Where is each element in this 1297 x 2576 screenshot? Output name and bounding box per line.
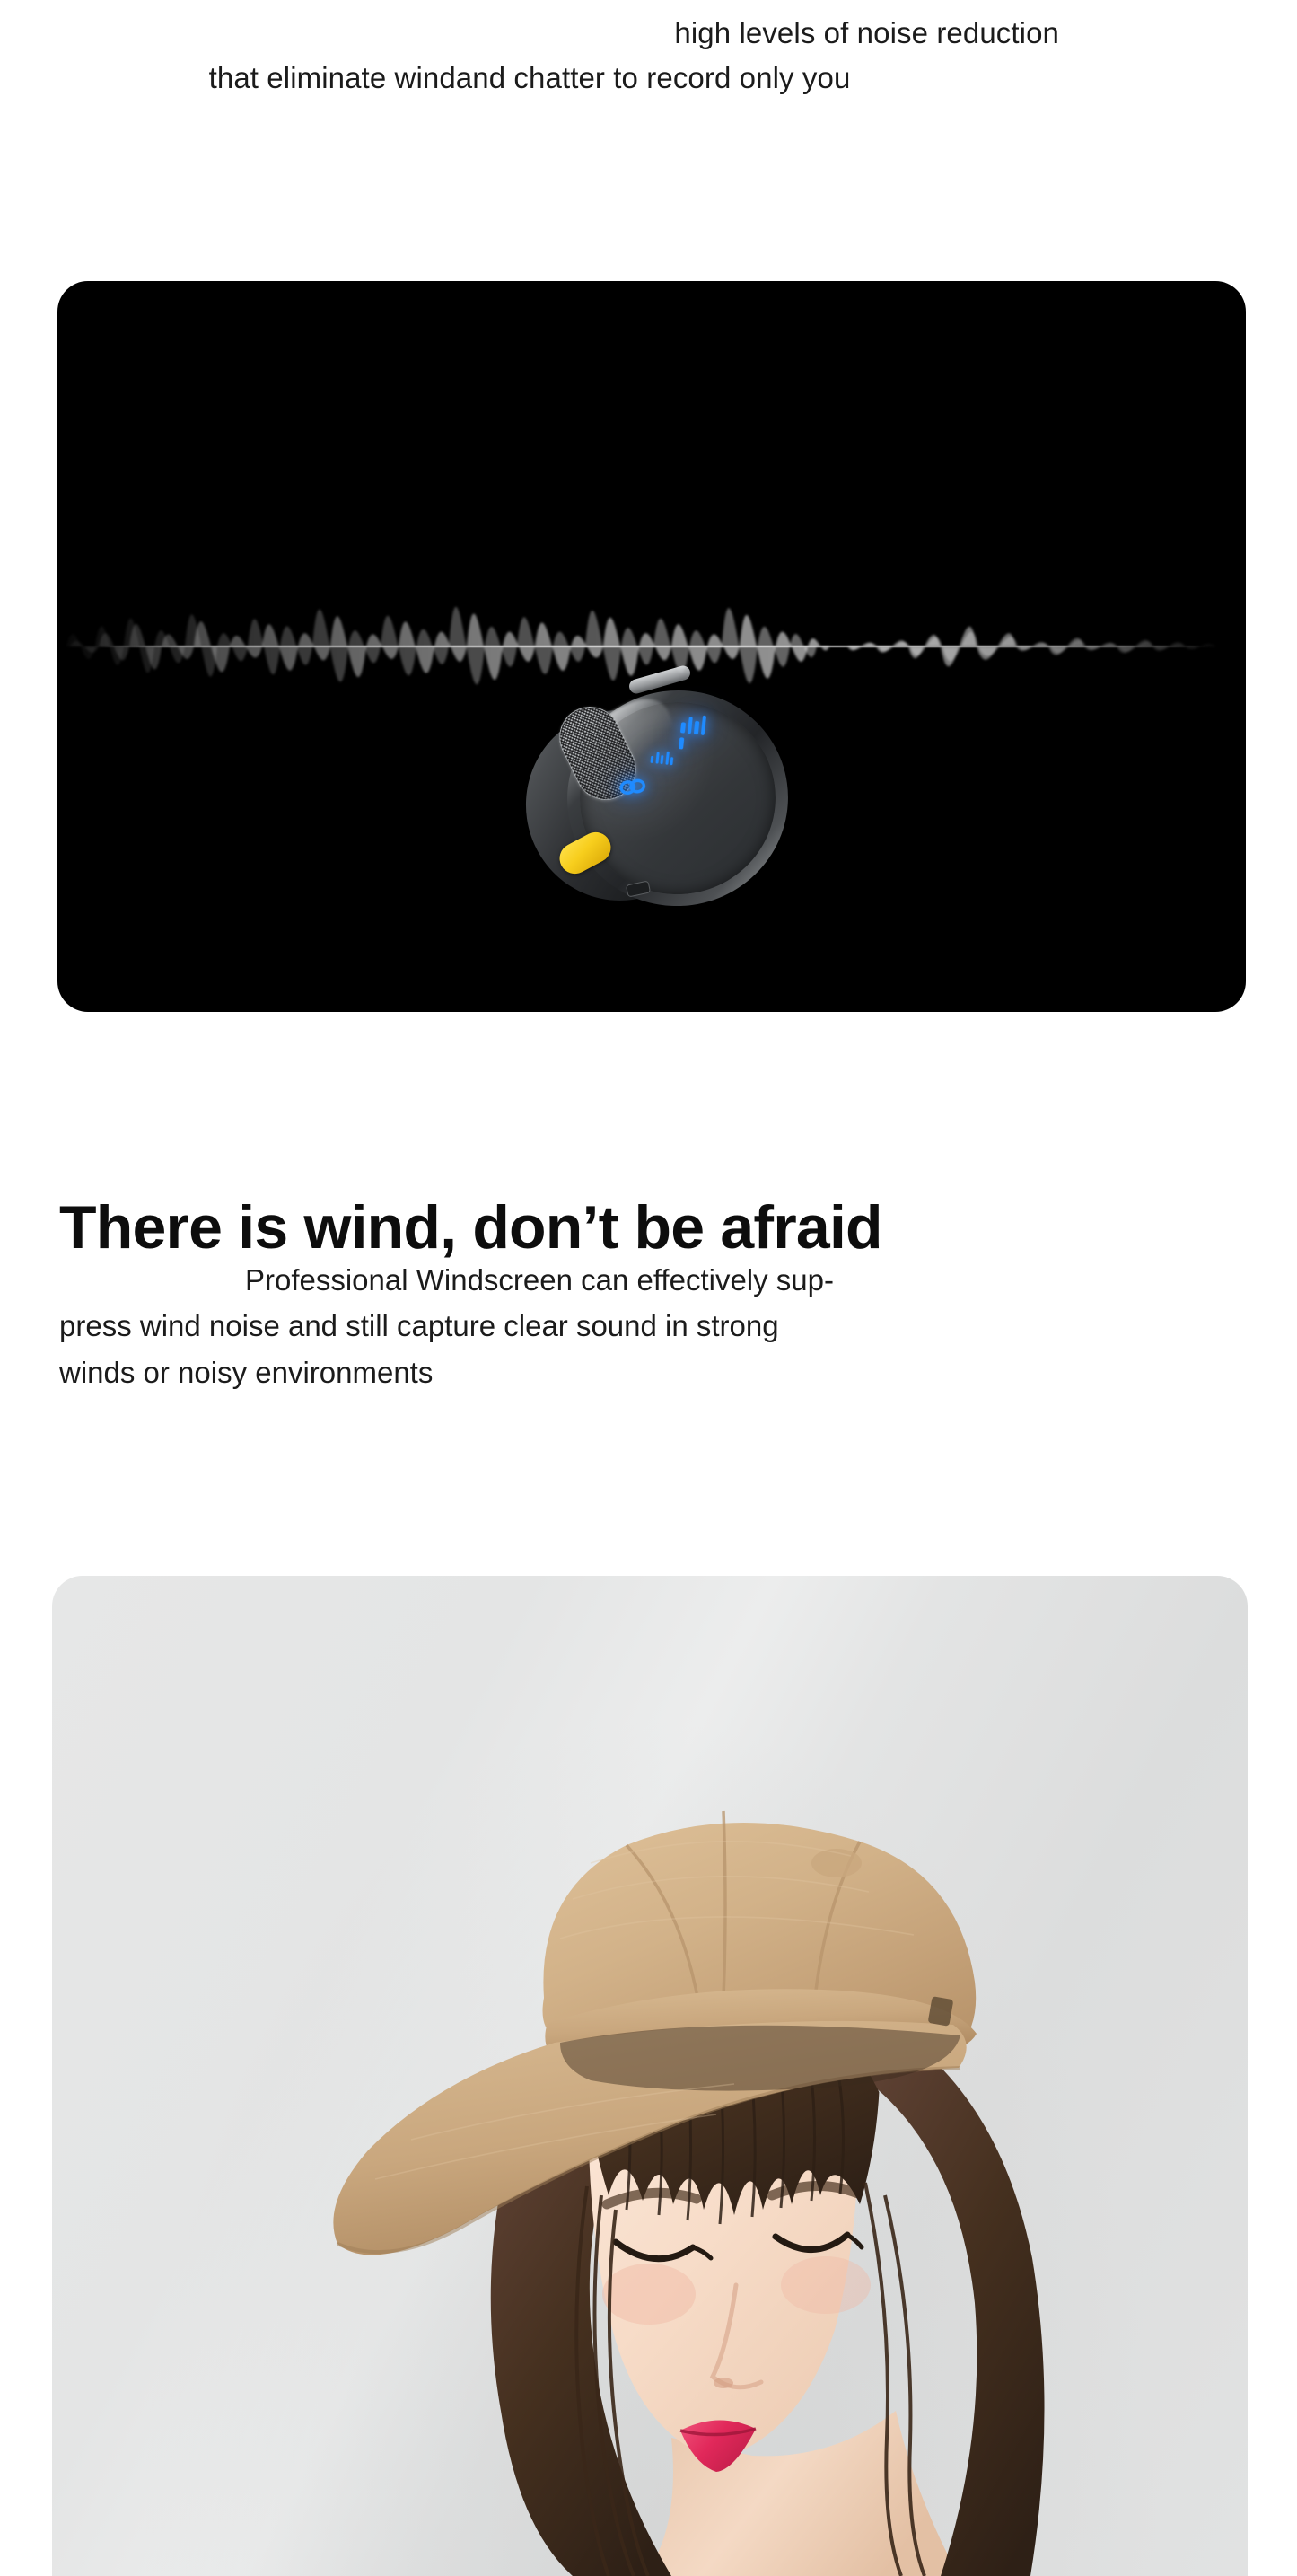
- section-paragraph: Professional Windscreen can effectively …: [59, 1257, 1020, 1395]
- section-body-line-1: Professional Windscreen can effectively …: [59, 1257, 1020, 1303]
- section-title: There is wind, don’t be afraid: [59, 1192, 882, 1262]
- intro-line-2: that eliminate windand chatter to record…: [0, 56, 1059, 101]
- signal-small-icon: [650, 746, 677, 766]
- section-body-line-3: winds or noisy environments: [59, 1350, 1020, 1395]
- section-body-line-2: press wind noise and still capture clear…: [59, 1303, 1020, 1349]
- model-portrait-image: [52, 1576, 1248, 2576]
- signal-large-icon: [678, 713, 713, 752]
- link-icon: [618, 776, 647, 801]
- intro-paragraph: high levels of noise reduction that elim…: [0, 11, 1059, 101]
- hero-image-card: [57, 281, 1246, 1012]
- intro-line-1: high levels of noise reduction: [0, 11, 1059, 56]
- lifestyle-photo-card: [52, 1576, 1248, 2576]
- microphone-device: [521, 678, 810, 911]
- led-indicator-group: [610, 711, 720, 810]
- waveform-center-line: [93, 646, 1210, 647]
- product-detail-page: high levels of noise reduction that elim…: [0, 0, 1297, 2576]
